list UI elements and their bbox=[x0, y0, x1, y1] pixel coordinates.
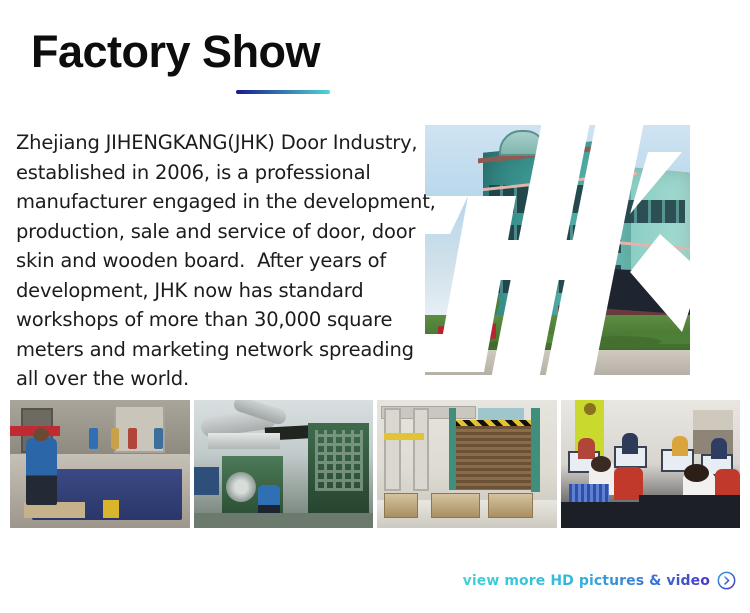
green-column bbox=[449, 408, 456, 490]
thumbnail-door-skin-workshop[interactable]: Door Skin Workshop bbox=[194, 400, 374, 528]
machine-canopy bbox=[208, 433, 280, 448]
view-more-link[interactable]: view more HD pictures & video bbox=[463, 571, 736, 590]
employee bbox=[578, 438, 594, 458]
hot-press-machine bbox=[308, 423, 369, 513]
workshop-floor bbox=[194, 513, 374, 528]
page-title: Factory Show bbox=[31, 28, 320, 75]
employee bbox=[622, 433, 638, 453]
title-underline-accent bbox=[236, 90, 330, 94]
background-person bbox=[111, 428, 120, 448]
press-bolt-grid bbox=[315, 430, 364, 491]
cubicle-partition bbox=[639, 495, 740, 528]
wood-crate bbox=[431, 493, 480, 518]
employee bbox=[672, 436, 688, 456]
employee bbox=[711, 438, 727, 458]
yellow-control-box bbox=[103, 500, 119, 518]
background-person bbox=[154, 428, 163, 448]
yellow-rail bbox=[384, 433, 423, 439]
factory-building-photo: 浙江基恒康门业有限公司 ZHEJIANG JIHENGKANG DOOR IND… bbox=[425, 125, 690, 375]
company-intro-paragraph: Zhejiang JIHENGKANG(JHK) Door Industry, … bbox=[16, 128, 436, 394]
thumbnail-door-workshop[interactable]: Door Workshop bbox=[377, 400, 557, 528]
background-person bbox=[128, 428, 137, 448]
green-column bbox=[531, 408, 540, 492]
window-row bbox=[595, 200, 685, 223]
tree bbox=[457, 280, 503, 360]
employee-head bbox=[591, 456, 611, 471]
view-more-label: view more HD pictures & video bbox=[463, 573, 710, 589]
ground-pavement bbox=[425, 350, 690, 375]
press-column bbox=[384, 408, 401, 491]
blue-cabinet bbox=[194, 467, 219, 495]
press-column bbox=[413, 408, 430, 491]
wood-crate bbox=[384, 493, 418, 518]
thumbnail-strip: Wood Board Workshop Door Skin Workshop D… bbox=[10, 400, 740, 528]
stacked-door-panels bbox=[456, 426, 531, 490]
thumbnail-sales-department[interactable]: Sales Department bbox=[561, 400, 741, 528]
chevron-right-circle-icon[interactable] bbox=[717, 571, 736, 590]
thumbnail-wood-board-workshop[interactable]: Wood Board Workshop bbox=[10, 400, 190, 528]
background-person bbox=[89, 428, 98, 448]
worker bbox=[26, 438, 57, 505]
wood-crate bbox=[488, 493, 533, 518]
